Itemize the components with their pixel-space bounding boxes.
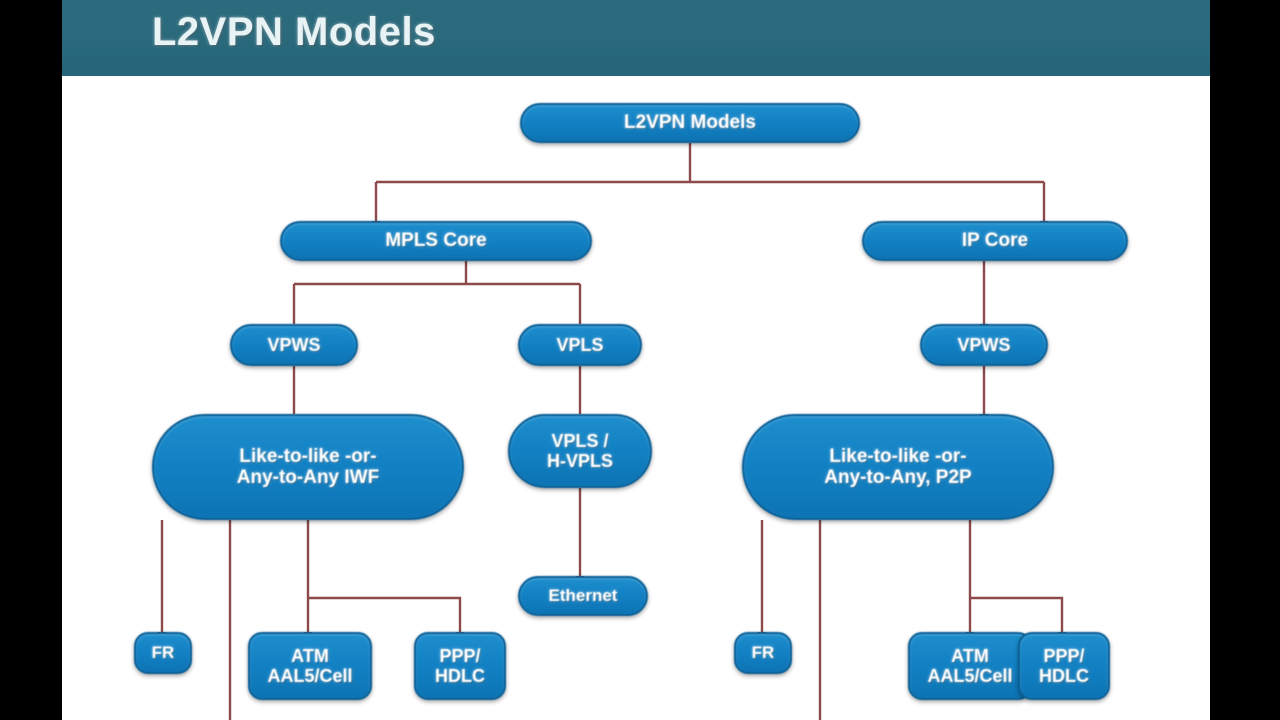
node-ppp-left-line1: PPP/	[439, 646, 480, 666]
node-ppp-right[interactable]: PPP/ HDLC	[1018, 632, 1110, 700]
node-fr-right[interactable]: FR	[734, 632, 792, 674]
node-vpls-label: VPLS	[556, 335, 603, 355]
diagram-canvas: L2VPN Models MPLS Core IP Core VPWS VPLS…	[62, 76, 1210, 720]
node-like-any-p2p-line1: Like-to-like -or-	[829, 446, 966, 467]
edge-iwf-ppp	[308, 598, 460, 632]
node-atm-left-line1: ATM	[291, 646, 329, 666]
node-ethernet[interactable]: Ethernet	[518, 576, 648, 616]
node-fr-right-label: FR	[752, 643, 775, 662]
page-title: L2VPN Models	[152, 10, 436, 55]
node-vpws-mpls[interactable]: VPWS	[230, 324, 358, 366]
node-vpws-ip[interactable]: VPWS	[920, 324, 1048, 366]
edge-p2p-ppp	[970, 598, 1062, 632]
node-vpls-hvpls-line1: VPLS /	[551, 431, 608, 451]
node-ppp-left[interactable]: PPP/ HDLC	[414, 632, 506, 700]
node-ip-core-label: IP Core	[962, 230, 1028, 251]
node-atm-right-line2: AAL5/Cell	[927, 666, 1012, 686]
slide-stage: L2VPN Models	[0, 0, 1280, 720]
node-vpls-hvpls[interactable]: VPLS / H-VPLS	[508, 414, 652, 488]
node-like-any-p2p[interactable]: Like-to-like -or- Any-to-Any, P2P	[742, 414, 1054, 520]
node-mpls-core-label: MPLS Core	[385, 230, 486, 251]
node-ppp-right-line2: HDLC	[1039, 666, 1089, 686]
node-like-any-iwf[interactable]: Like-to-like -or- Any-to-Any IWF	[152, 414, 464, 520]
node-root-label: L2VPN Models	[624, 112, 756, 133]
node-ip-core[interactable]: IP Core	[862, 221, 1128, 261]
node-vpws-mpls-label: VPWS	[267, 335, 320, 355]
node-vpls[interactable]: VPLS	[518, 324, 642, 366]
node-ethernet-label: Ethernet	[549, 586, 618, 605]
slide: L2VPN Models	[62, 0, 1210, 720]
node-mpls-core[interactable]: MPLS Core	[280, 221, 592, 261]
connector-lines	[62, 76, 1210, 720]
node-ppp-left-line2: HDLC	[435, 666, 485, 686]
node-vpls-hvpls-line2: H-VPLS	[547, 451, 613, 471]
node-like-any-p2p-line2: Any-to-Any, P2P	[824, 467, 971, 488]
node-vpws-ip-label: VPWS	[957, 335, 1010, 355]
node-fr-left[interactable]: FR	[134, 632, 192, 674]
node-atm-right-line1: ATM	[951, 646, 989, 666]
slide-header: L2VPN Models	[62, 0, 1210, 76]
node-fr-left-label: FR	[152, 643, 175, 662]
node-like-any-iwf-line1: Like-to-like -or-	[239, 446, 376, 467]
node-atm-left[interactable]: ATM AAL5/Cell	[248, 632, 372, 700]
node-ppp-right-line1: PPP/	[1043, 646, 1084, 666]
node-like-any-iwf-line2: Any-to-Any IWF	[237, 467, 379, 488]
node-atm-left-line2: AAL5/Cell	[267, 666, 352, 686]
node-root[interactable]: L2VPN Models	[520, 103, 860, 143]
node-atm-right[interactable]: ATM AAL5/Cell	[908, 632, 1032, 700]
